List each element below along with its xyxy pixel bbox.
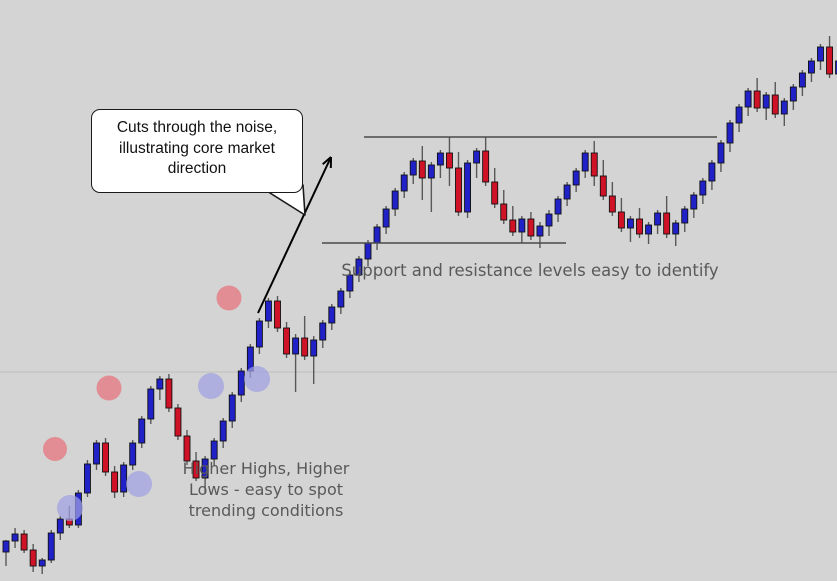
candle — [799, 70, 805, 96]
candle-body — [528, 219, 534, 236]
candle — [311, 336, 317, 384]
candle-body — [175, 408, 181, 436]
candle-body — [48, 533, 54, 560]
candle — [745, 88, 751, 116]
candle-body — [627, 219, 633, 228]
candle — [483, 137, 489, 186]
candle — [627, 216, 633, 242]
candle — [12, 528, 18, 548]
candle — [103, 438, 109, 476]
candle-body — [437, 153, 443, 165]
candle-body — [456, 168, 462, 212]
candle-body — [21, 534, 27, 550]
candle-body — [157, 379, 163, 389]
candle-body — [211, 441, 217, 459]
price-chart — [0, 0, 837, 581]
candle-body — [618, 212, 624, 228]
candle — [229, 392, 235, 428]
candle-body — [790, 87, 796, 101]
candle-body — [546, 214, 552, 226]
candle — [94, 440, 100, 470]
callout-bubble: Cuts through the noise, illustrating cor… — [91, 109, 303, 193]
candle-body — [139, 419, 145, 443]
candle — [446, 137, 452, 186]
candle — [121, 462, 127, 497]
candle-body — [238, 371, 244, 395]
candle — [175, 404, 181, 440]
candle-body — [302, 338, 308, 356]
candle-body — [763, 95, 769, 108]
candle-body — [492, 182, 498, 204]
candle-body — [682, 209, 688, 223]
candle-body — [808, 61, 814, 73]
candle — [374, 224, 380, 250]
swing-high-2 — [97, 376, 122, 401]
candle-body — [148, 389, 154, 419]
candle — [700, 178, 706, 204]
candle-body — [112, 472, 118, 492]
candle-body — [600, 176, 606, 196]
candle — [655, 210, 661, 234]
candle-body — [94, 443, 100, 464]
candle — [148, 386, 154, 424]
candle — [419, 146, 425, 200]
candle — [437, 150, 443, 178]
candle — [401, 172, 407, 198]
candle — [48, 530, 54, 563]
candle-body — [637, 219, 643, 234]
candle-body — [573, 171, 579, 185]
candle-body — [709, 163, 715, 181]
candle-body — [700, 181, 706, 195]
candle — [591, 141, 597, 186]
candle — [528, 212, 534, 240]
support-resistance-label: Support and resistance levels easy to id… — [330, 261, 730, 281]
candle-body — [646, 225, 652, 234]
candle-body — [410, 161, 416, 175]
candle — [57, 516, 63, 540]
candle-body — [84, 464, 90, 493]
candle — [609, 182, 615, 216]
candle — [772, 82, 778, 118]
candle-body — [691, 195, 697, 209]
swing-low-2 — [126, 471, 152, 497]
candle-body — [311, 340, 317, 356]
candle — [130, 440, 136, 470]
candle — [519, 216, 525, 243]
candle-body — [30, 550, 36, 566]
candle-body — [338, 291, 344, 307]
candle — [275, 296, 281, 332]
candle — [709, 160, 715, 190]
candle — [818, 44, 824, 70]
swing-low-4 — [244, 366, 270, 392]
candle — [573, 168, 579, 192]
candle-body — [745, 91, 751, 107]
candle-body — [799, 73, 805, 87]
candle — [112, 466, 118, 498]
candle — [220, 418, 226, 448]
candle-body — [329, 307, 335, 323]
candle — [673, 220, 679, 246]
candle — [428, 162, 434, 212]
candle — [510, 206, 516, 236]
candle — [139, 416, 145, 448]
candle — [238, 368, 244, 402]
swing-low-1 — [57, 495, 83, 521]
candle-body — [419, 161, 425, 178]
candle-body — [320, 323, 326, 340]
candle — [320, 320, 326, 348]
candle-body — [374, 227, 380, 243]
candle-body — [166, 379, 172, 408]
candle-body — [121, 465, 127, 492]
candle-body — [365, 243, 371, 259]
candle-body — [130, 443, 136, 465]
candle — [564, 182, 570, 206]
candle-body — [383, 209, 389, 227]
candle — [302, 316, 308, 360]
candle-body — [555, 199, 561, 214]
candle — [546, 210, 552, 236]
candle — [39, 558, 45, 574]
candle-body — [220, 421, 226, 441]
swing-high-1 — [43, 437, 67, 461]
candle — [338, 288, 344, 314]
swing-high-3 — [217, 286, 242, 311]
candle-body — [284, 328, 290, 354]
candle-body — [818, 47, 824, 61]
candle-body — [401, 175, 407, 191]
candle-body — [57, 519, 63, 533]
candle — [637, 208, 643, 238]
candle — [456, 152, 462, 216]
candle-body — [256, 321, 262, 347]
candle-body — [39, 560, 45, 566]
candle — [157, 376, 163, 400]
candle — [727, 120, 733, 152]
candle — [284, 322, 290, 358]
candle-body — [827, 47, 833, 74]
candle-body — [564, 185, 570, 199]
candle-body — [428, 165, 434, 178]
candle-body — [501, 204, 507, 220]
candle-body — [465, 163, 471, 212]
candle — [582, 150, 588, 178]
candle — [3, 540, 9, 566]
candle — [383, 206, 389, 234]
candle — [492, 168, 498, 208]
candle-body — [519, 219, 525, 232]
candle — [21, 530, 27, 553]
candle-body — [727, 123, 733, 143]
callout-text: Cuts through the noise, illustrating cor… — [91, 118, 303, 180]
candle — [718, 140, 724, 172]
candle — [781, 98, 787, 126]
candle — [736, 104, 742, 132]
candle — [410, 158, 416, 184]
candle-body — [293, 338, 299, 354]
candle — [537, 222, 543, 248]
candle-body — [510, 220, 516, 232]
candle — [30, 544, 36, 572]
candle — [84, 460, 90, 497]
candle-body — [718, 143, 724, 163]
higher-highs-label: Higher Highs, Higher Lows - easy to spot… — [170, 458, 362, 521]
candle-body — [446, 153, 452, 168]
candle-body — [772, 95, 778, 114]
candle — [293, 334, 299, 392]
candle-body — [474, 151, 480, 163]
candle-body — [754, 91, 760, 108]
candle — [329, 304, 335, 330]
candle-body — [736, 107, 742, 123]
candle-body — [673, 223, 679, 234]
candle — [790, 84, 796, 110]
candle-body — [483, 151, 489, 182]
candle-body — [537, 226, 543, 236]
candle — [555, 196, 561, 222]
candle — [664, 196, 670, 238]
candle — [465, 160, 471, 218]
candle — [501, 190, 507, 224]
candle — [600, 160, 606, 200]
candle — [646, 222, 652, 244]
candle — [827, 36, 833, 78]
candle — [763, 92, 769, 120]
swing-low-3 — [198, 373, 224, 399]
candle-body — [265, 301, 271, 321]
candle — [618, 198, 624, 232]
candle-body — [275, 301, 281, 328]
candle-body — [591, 153, 597, 176]
candle-body — [582, 153, 588, 171]
candle — [256, 318, 262, 354]
candle-body — [3, 541, 9, 552]
candle-body — [392, 191, 398, 209]
candle — [166, 374, 172, 412]
candle-body — [12, 534, 18, 541]
candle-body — [609, 196, 615, 212]
candle — [691, 192, 697, 218]
candle-body — [781, 101, 787, 114]
candle-body — [655, 213, 661, 225]
candle-body — [103, 443, 109, 472]
candle — [682, 206, 688, 232]
candlestick-chart-page: Cuts through the noise, illustrating cor… — [0, 0, 837, 581]
candle — [808, 58, 814, 82]
candle — [265, 298, 271, 328]
candle — [754, 78, 760, 112]
candle — [474, 148, 480, 178]
candle — [392, 188, 398, 216]
candle-body — [664, 213, 670, 234]
candle-body — [229, 395, 235, 421]
